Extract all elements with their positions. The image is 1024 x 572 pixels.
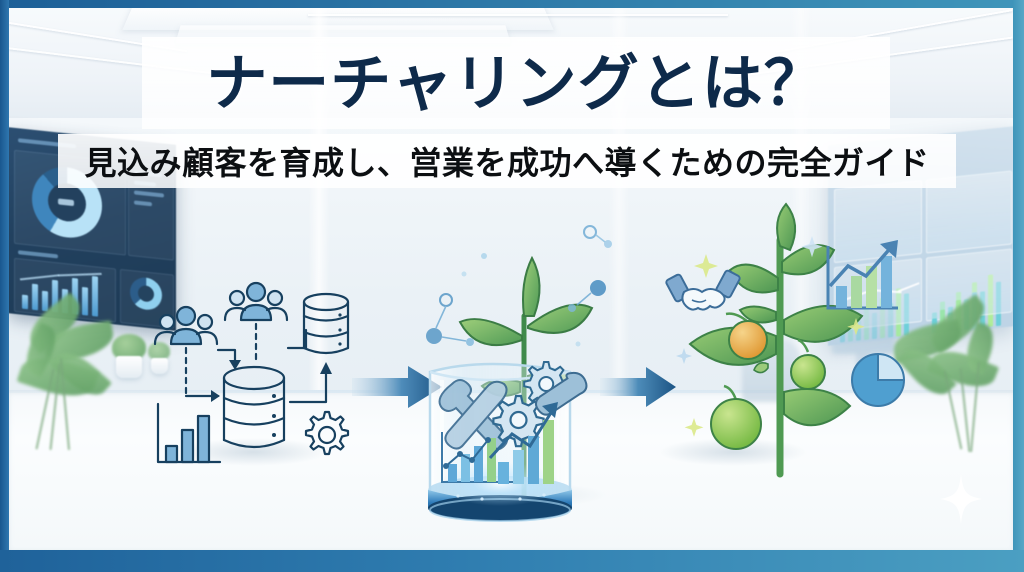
people-group-icon [155, 307, 217, 344]
sparkle-icon [940, 474, 982, 524]
page-title: ナーチャリングとは？ [206, 53, 825, 114]
stage-1-icon-group [140, 268, 370, 483]
frame-left-border [0, 0, 9, 572]
pie-chart-icon [852, 354, 904, 406]
frame-right-border [1013, 0, 1024, 572]
growth-chart-icon [828, 240, 898, 308]
people-group-icon [225, 283, 287, 320]
fruit-green [791, 340, 825, 389]
network-nodes-icon [426, 226, 612, 347]
fruiting-plant-icon [690, 204, 862, 474]
database-icon [304, 294, 348, 353]
stage-2-beaker-group [412, 196, 642, 526]
bar-chart-icon [158, 404, 220, 462]
page-subtitle: 見込み顧客を育成し、営業を成功へ導くための完全ガイド [84, 138, 929, 184]
stage-3-result-group [640, 196, 920, 486]
handshake-icon [665, 270, 740, 310]
banner-image: ナーチャリングとは？ 見込み顧客を育成し、営業を成功へ導くための完全ガイド [0, 0, 1024, 572]
frame-top-border [0, 0, 1024, 8]
fruit-green [711, 386, 761, 449]
gear-icon [306, 412, 348, 454]
database-icon [224, 367, 284, 447]
title-band: ナーチャリングとは？ [142, 37, 890, 129]
subtitle-band: 見込み顧客を育成し、営業を成功へ導くための完全ガイド [58, 134, 956, 188]
frame-bottom-border [0, 550, 1024, 572]
